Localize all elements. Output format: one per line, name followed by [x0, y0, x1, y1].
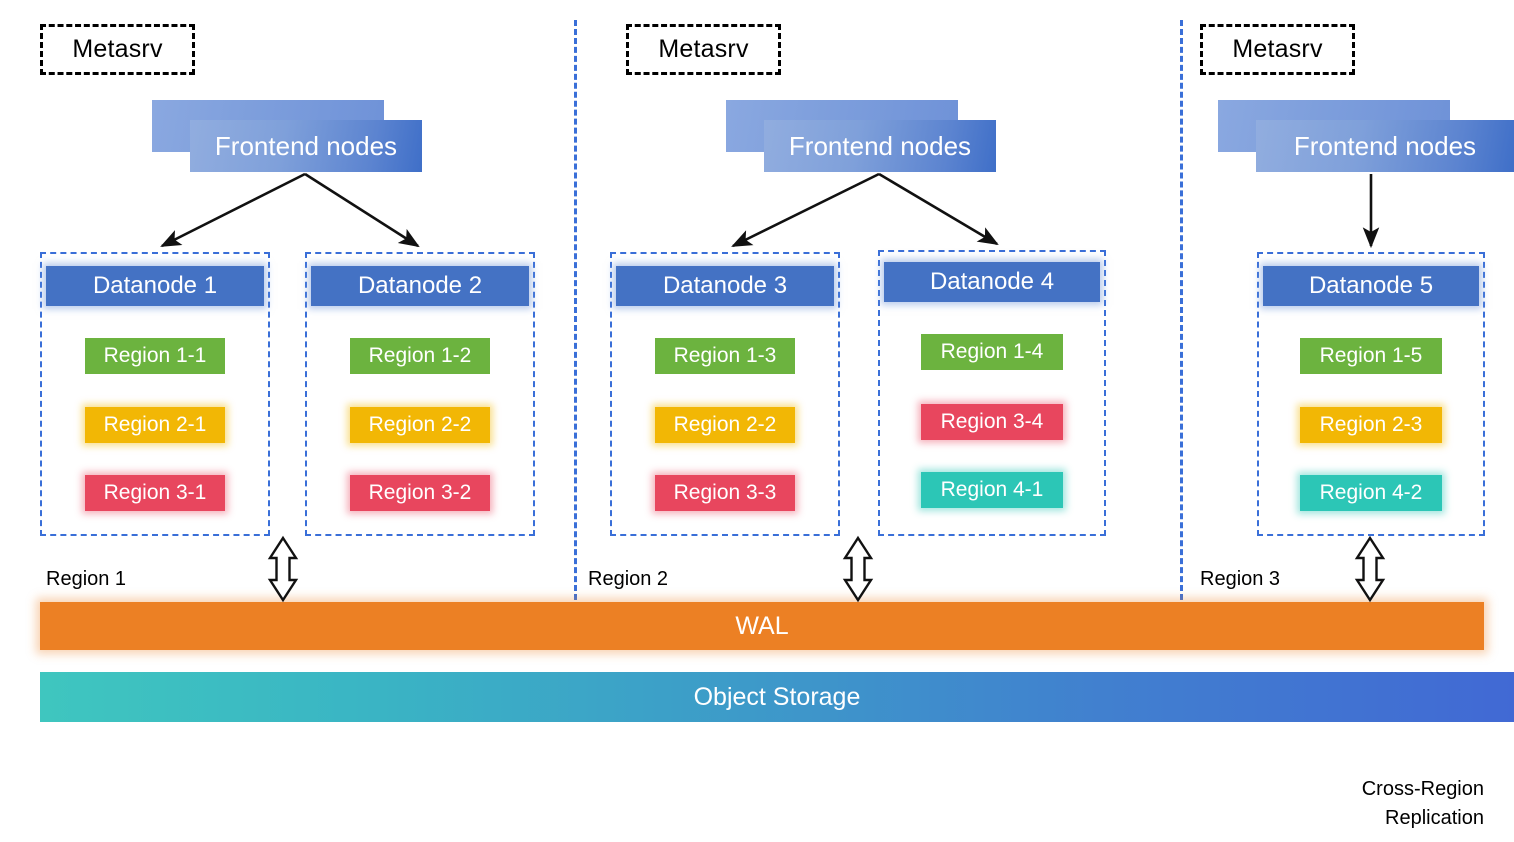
frontend-card-front-layer: Frontend nodes: [764, 120, 996, 172]
region-pill-label: Region 1-1: [104, 344, 207, 368]
datanode-title: Datanode 5: [1309, 272, 1433, 300]
region-pill-4-1: Region 4-1: [921, 472, 1063, 508]
frontend-nodes-card-region-3: Frontend nodes: [1218, 100, 1514, 172]
metasrv-box-region-2: Metasrv: [626, 24, 781, 75]
region-pill-1-1: Region 1-1: [85, 338, 225, 374]
region-pill-label: Region 1-5: [1320, 344, 1423, 368]
region-pill-label: Region 3-2: [369, 481, 472, 505]
metasrv-label: Metasrv: [1232, 35, 1322, 64]
object-storage-bar: Object Storage: [40, 672, 1514, 722]
arrow-frontend-to-datanode-4: [879, 174, 997, 244]
region-pill-2-1: Region 2-1: [85, 407, 225, 443]
region-pill-3-4: Region 3-4: [921, 404, 1063, 440]
object-storage-label: Object Storage: [694, 683, 861, 712]
ground-label-region-2: Region 2: [588, 568, 668, 591]
datanode-header-3: Datanode 3: [616, 266, 834, 306]
wal-label: WAL: [735, 612, 788, 641]
region-pill-label: Region 2-3: [1320, 413, 1423, 437]
region-pill-label: Region 1-3: [674, 344, 777, 368]
region-pill-1-3: Region 1-3: [655, 338, 795, 374]
cross-region-replication-label: Cross-Region Replication: [1204, 746, 1484, 833]
wal-bar: WAL: [40, 602, 1484, 650]
region-pill-label: Region 1-4: [941, 340, 1044, 364]
metasrv-box-region-3: Metasrv: [1200, 24, 1355, 75]
frontend-nodes-card-region-1: Frontend nodes: [152, 100, 422, 172]
region-pill-label: Region 1-2: [369, 344, 472, 368]
metasrv-label: Metasrv: [658, 35, 748, 64]
region-pill-label: Region 4-1: [941, 478, 1044, 502]
region-pill-label: Region 2-1: [104, 413, 207, 437]
frontend-nodes-label: Frontend nodes: [1294, 131, 1476, 162]
region-pill-2-2b: Region 2-2: [655, 407, 795, 443]
datanode-title: Datanode 3: [663, 272, 787, 300]
bidirectional-arrow-wal-region-3: [1357, 538, 1383, 600]
region-pill-1-4: Region 1-4: [921, 334, 1063, 370]
frontend-nodes-card-region-2: Frontend nodes: [726, 100, 996, 172]
region-pill-3-2: Region 3-2: [350, 475, 490, 511]
region-pill-label: Region 3-3: [674, 481, 777, 505]
bidirectional-arrow-wal-region-2: [845, 538, 871, 600]
region-separator-2: [1180, 20, 1183, 600]
ground-label-region-3: Region 3: [1200, 568, 1280, 591]
datanode-title: Datanode 4: [930, 268, 1054, 296]
region-separator-1: [574, 20, 577, 600]
arrow-frontend-to-datanode-3: [733, 174, 879, 246]
frontend-card-front-layer: Frontend nodes: [190, 120, 422, 172]
region-pill-2-3: Region 2-3: [1300, 407, 1442, 443]
frontend-nodes-label: Frontend nodes: [789, 131, 971, 162]
ground-label-region-1: Region 1: [46, 568, 126, 591]
arrow-frontend-to-datanode-2: [305, 174, 418, 246]
datanode-header-5: Datanode 5: [1263, 266, 1479, 306]
datanode-header-4: Datanode 4: [884, 262, 1100, 302]
region-pill-4-2: Region 4-2: [1300, 475, 1442, 511]
region-pill-label: Region 3-4: [941, 410, 1044, 434]
region-pill-3-3: Region 3-3: [655, 475, 795, 511]
metasrv-box-region-1: Metasrv: [40, 24, 195, 75]
region-pill-label: Region 4-2: [1320, 481, 1423, 505]
bidirectional-arrow-wal-region-1: [270, 538, 296, 600]
datanode-header-1: Datanode 1: [46, 266, 264, 306]
region-pill-label: Region 3-1: [104, 481, 207, 505]
region-pill-3-1: Region 3-1: [85, 475, 225, 511]
datanode-title: Datanode 2: [358, 272, 482, 300]
frontend-nodes-label: Frontend nodes: [215, 131, 397, 162]
region-pill-2-2a: Region 2-2: [350, 407, 490, 443]
region-pill-1-5: Region 1-5: [1300, 338, 1442, 374]
metasrv-label: Metasrv: [72, 35, 162, 64]
datanode-title: Datanode 1: [93, 272, 217, 300]
region-pill-label: Region 2-2: [674, 413, 777, 437]
region-pill-label: Region 2-2: [369, 413, 472, 437]
architecture-diagram: Metasrv Frontend nodes Datanode 1 Region…: [0, 0, 1514, 842]
arrow-frontend-to-datanode-1: [162, 174, 305, 246]
region-pill-1-2: Region 1-2: [350, 338, 490, 374]
datanode-header-2: Datanode 2: [311, 266, 529, 306]
frontend-card-front-layer: Frontend nodes: [1256, 120, 1514, 172]
